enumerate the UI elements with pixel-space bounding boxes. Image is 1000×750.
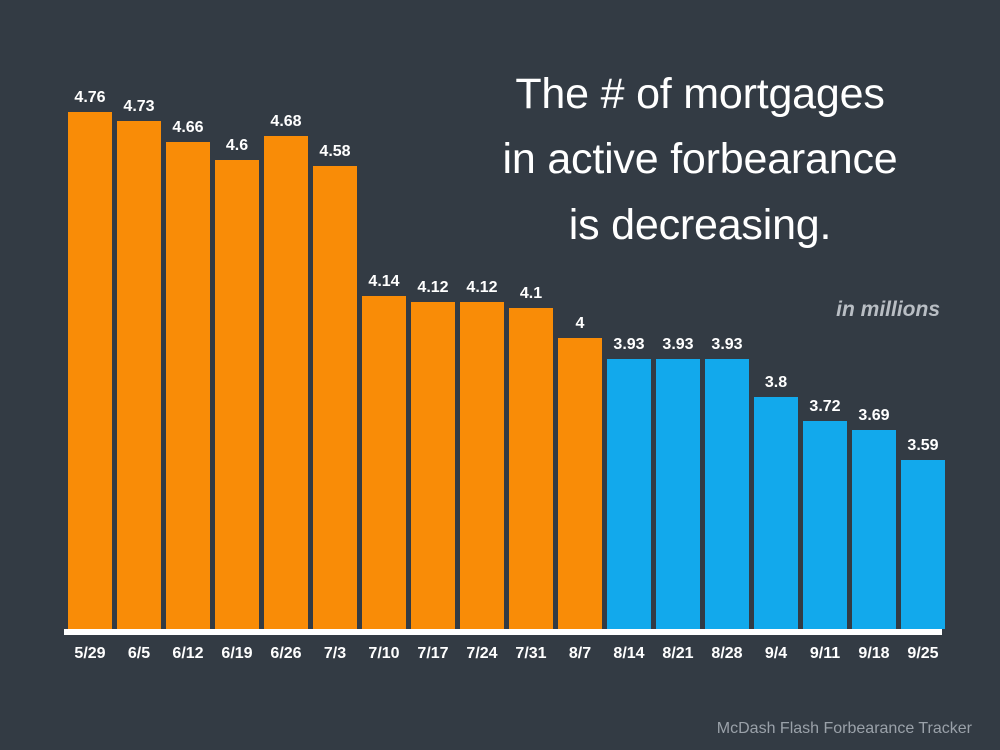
bar-value-label: 3.72 [809, 398, 840, 416]
source-attribution: McDash Flash Forbearance Tracker [717, 720, 972, 738]
x-axis-label-8-21: 8/21 [651, 645, 705, 663]
bar-rect [509, 308, 553, 629]
bar-rect [607, 359, 651, 629]
bar-rect [313, 166, 357, 629]
bar-rect [852, 430, 896, 629]
x-axis-label-9-11: 9/11 [798, 645, 852, 663]
x-axis-labels: 5/296/56/126/196/267/37/107/177/247/318/… [64, 645, 944, 673]
x-axis-label-8-28: 8/28 [700, 645, 754, 663]
bar-rect [754, 397, 798, 629]
bar-value-label: 4.1 [520, 285, 542, 303]
chart-slide: The # of mortgages in active forbearance… [0, 0, 1000, 750]
x-axis-label-6-5: 6/5 [112, 645, 166, 663]
bar-value-label: 4.14 [368, 273, 399, 291]
x-axis-label-7-31: 7/31 [504, 645, 558, 663]
x-axis-label-7-24: 7/24 [455, 645, 509, 663]
bar-rect [901, 460, 945, 629]
bar-value-label: 3.93 [711, 336, 742, 354]
x-axis-label-9-18: 9/18 [847, 645, 901, 663]
bar-rect [362, 296, 406, 629]
bar-value-label: 4.66 [172, 119, 203, 137]
bar-rect [803, 421, 847, 629]
x-axis-label-9-4: 9/4 [749, 645, 803, 663]
x-axis-line [64, 629, 942, 635]
bar-rect [558, 338, 602, 629]
bar-value-label: 4.58 [319, 143, 350, 161]
bar-value-label: 3.93 [613, 336, 644, 354]
bar-value-label: 4.68 [270, 113, 301, 131]
x-axis-label-6-19: 6/19 [210, 645, 264, 663]
plot-area: 4.764.734.664.64.684.584.144.124.124.143… [64, 60, 944, 635]
x-axis-label-7-3: 7/3 [308, 645, 362, 663]
bar-rect [68, 112, 112, 629]
bar-rect [460, 302, 504, 629]
bar-value-label: 3.8 [765, 374, 787, 392]
bar-value-label: 4.73 [123, 98, 154, 116]
x-axis-label-5-29: 5/29 [63, 645, 117, 663]
bar-value-label: 4.76 [74, 89, 105, 107]
bar-rect [411, 302, 455, 629]
bar-value-label: 4.6 [226, 137, 248, 155]
bars-layer: 4.764.734.664.64.684.584.144.124.124.143… [64, 60, 944, 629]
bar-rect [705, 359, 749, 629]
bar-rect [215, 160, 259, 629]
bar-value-label: 3.59 [907, 437, 938, 455]
bar-value-label: 4.12 [417, 279, 448, 297]
x-axis-label-7-10: 7/10 [357, 645, 411, 663]
x-axis-label-7-17: 7/17 [406, 645, 460, 663]
bar-value-label: 4.12 [466, 279, 497, 297]
x-axis-label-9-25: 9/25 [896, 645, 950, 663]
x-axis-label-6-26: 6/26 [259, 645, 313, 663]
bar-rect [656, 359, 700, 629]
x-axis-label-6-12: 6/12 [161, 645, 215, 663]
x-axis-label-8-7: 8/7 [553, 645, 607, 663]
bar-rect [166, 142, 210, 629]
bar-rect [117, 121, 161, 629]
bar-value-label: 4 [576, 315, 585, 333]
bar-value-label: 3.69 [858, 407, 889, 425]
bar-rect [264, 136, 308, 629]
x-axis-label-8-14: 8/14 [602, 645, 656, 663]
bar-value-label: 3.93 [662, 336, 693, 354]
